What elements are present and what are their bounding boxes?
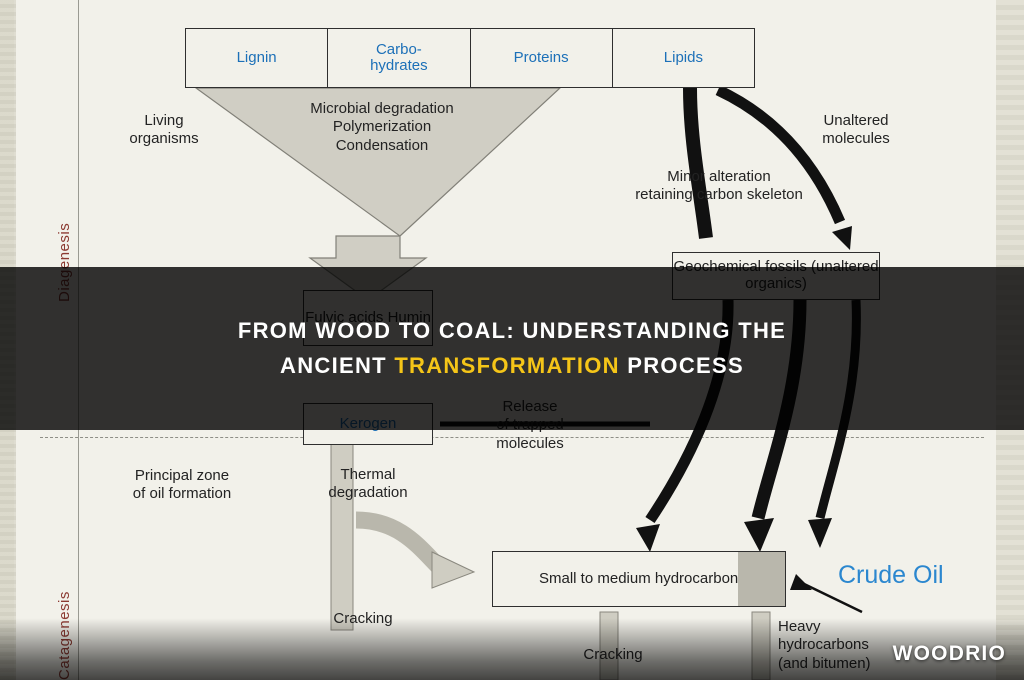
- precursor-cell-lignin[interactable]: Lignin: [186, 29, 328, 87]
- hydrocarbons-box-shaded-segment: [738, 552, 785, 606]
- precursor-cell-proteins[interactable]: Proteins: [471, 29, 613, 87]
- label-unaltered-molecules: Unaltered molecules: [796, 112, 916, 149]
- label-thermal-degradation: Thermal degradation: [298, 466, 438, 503]
- label-living-organisms: Living organisms: [104, 112, 224, 149]
- lipid-to-fossils-path: [690, 88, 706, 238]
- title-overlay: FROM WOOD TO COAL: UNDERSTANDING THE ANC…: [0, 267, 1024, 430]
- cracking-curved-arrow: [356, 520, 440, 568]
- label-microbial-degradation: Microbial degradation Polymerization Con…: [282, 100, 482, 155]
- cracking-arrowhead: [432, 552, 474, 588]
- heavy-hydrocarbons-pointer-arrowhead: [790, 574, 812, 590]
- overlay-line-2: ANCIENT TRANSFORMATION PROCESS: [280, 349, 744, 383]
- overlay-line-2-suffix: PROCESS: [620, 353, 744, 378]
- organic-precursors-row: Lignin Carbo- hydrates Proteins Lipids: [185, 28, 755, 88]
- unaltered-molecules-arrowhead: [832, 226, 852, 250]
- fossils-to-hydrocarbons-arrowhead: [636, 524, 660, 552]
- overlay-line-2-highlight: TRANSFORMATION: [394, 353, 620, 378]
- overlay-line-2-prefix: ANCIENT: [280, 353, 394, 378]
- precursor-cell-lipids[interactable]: Lipids: [613, 29, 754, 87]
- label-principal-oil-zone: Principal zone of oil formation: [104, 467, 260, 504]
- site-watermark: WOODRIO: [893, 642, 1006, 666]
- label-minor-alteration: Minor alteration retaining carbon skelet…: [594, 168, 844, 205]
- overlay-line-1: FROM WOOD TO COAL: UNDERSTANDING THE: [238, 314, 786, 348]
- screenshot-root: Diagenesis Catagenesis: [0, 0, 1024, 680]
- fossils-to-crude-arrowhead: [808, 518, 832, 548]
- bottom-gradient-shade: [0, 618, 1024, 680]
- label-crude-oil: Crude Oil: [838, 560, 1018, 591]
- precursor-cell-carbohydrates[interactable]: Carbo- hydrates: [328, 29, 470, 87]
- fossils-to-heavy-arrowhead: [744, 518, 774, 552]
